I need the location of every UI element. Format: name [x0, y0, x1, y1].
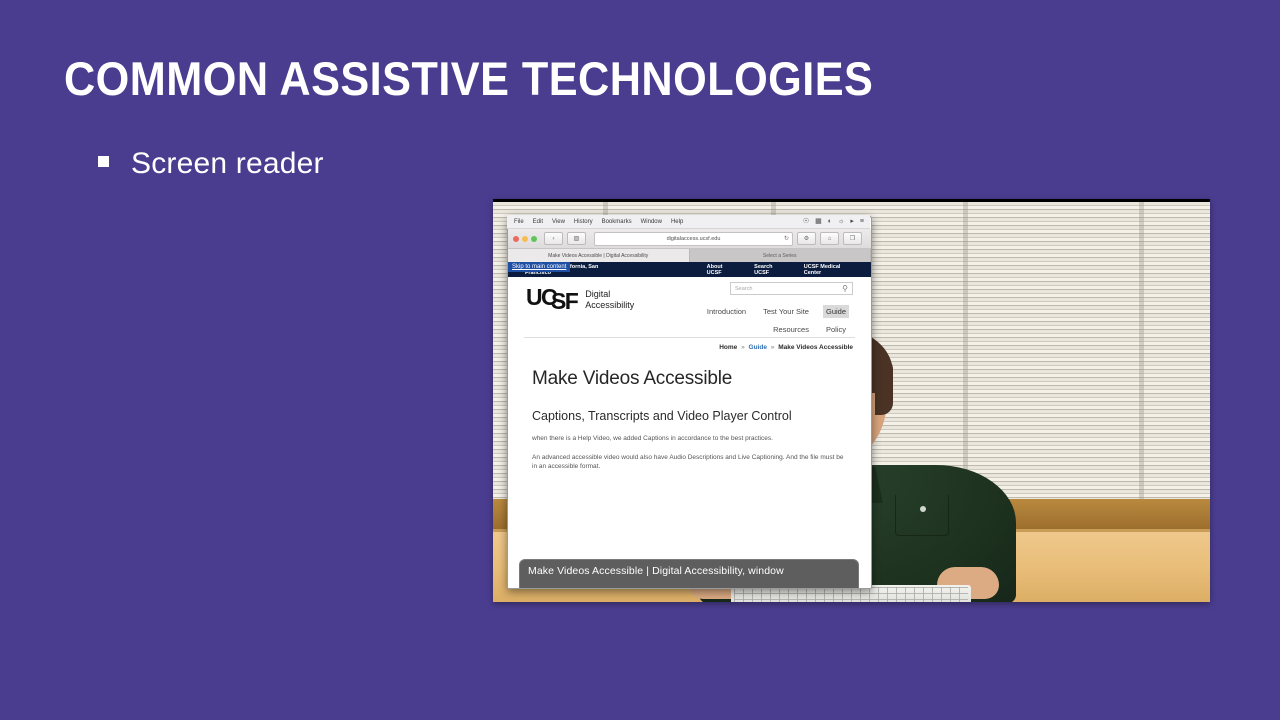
- minimize-window-icon[interactable]: [522, 236, 528, 242]
- bullet-list: Screen reader: [98, 147, 324, 181]
- site-name: Digital Accessibility: [585, 289, 634, 312]
- shirt-pocket-right: [895, 495, 949, 536]
- address-value: digitalaccess.ucsf.edu: [667, 236, 721, 242]
- site-name-line1: Digital: [585, 289, 610, 299]
- video-player-frame[interactable]: ‹ ▧ digitalaccess.ucsf.edu ↻ ⚙ ⌂ ❐ Make …: [493, 199, 1210, 602]
- downloads-button[interactable]: ⚙: [797, 232, 816, 245]
- page-title: COMMON ASSISTIVE TECHNOLOGIES: [64, 54, 873, 103]
- menu-edit[interactable]: Edit: [533, 219, 543, 225]
- breadcrumb[interactable]: Home » Guide » Make Videos Accessible: [524, 337, 855, 351]
- menu-history[interactable]: History: [574, 219, 593, 225]
- search-icon[interactable]: ⚲: [842, 284, 848, 293]
- breadcrumb-current: Make Videos Accessible: [778, 344, 853, 351]
- window-controls[interactable]: [513, 236, 537, 242]
- wifi-icon[interactable]: ◐: [828, 218, 832, 225]
- square-bullet-icon: [98, 156, 109, 167]
- browser-toolbar[interactable]: ‹ ▧ digitalaccess.ucsf.edu ↻ ⚙ ⌂ ❐: [508, 229, 871, 249]
- address-bar[interactable]: digitalaccess.ucsf.edu ↻: [594, 232, 793, 246]
- site-name-line2: Accessibility: [585, 300, 634, 310]
- reader-button[interactable]: ⌂: [820, 232, 839, 245]
- reload-icon[interactable]: ↻: [784, 235, 789, 242]
- menu-view[interactable]: View: [552, 219, 565, 225]
- breadcrumb-separator: »: [771, 344, 775, 351]
- topbar-link-search[interactable]: Search UCSF: [754, 264, 784, 276]
- bluetooth-icon[interactable]: ☉: [803, 218, 809, 225]
- bullet-item-label: Screen reader: [131, 147, 324, 181]
- content-paragraph-2: An advanced accessible video would also …: [532, 453, 847, 473]
- slide: COMMON ASSISTIVE TECHNOLOGIES Screen rea…: [0, 0, 1280, 720]
- browser-window[interactable]: ‹ ▧ digitalaccess.ucsf.edu ↻ ⚙ ⌂ ❐ Make …: [507, 215, 872, 589]
- browser-tab-inactive[interactable]: Select a Series: [690, 249, 872, 262]
- battery-icon[interactable]: ▸: [850, 218, 854, 225]
- content-heading-1: Make Videos Accessible: [532, 368, 871, 390]
- menu-help[interactable]: Help: [671, 219, 683, 225]
- breadcrumb-guide[interactable]: Guide: [749, 344, 767, 351]
- search-placeholder: Search: [735, 286, 842, 292]
- nav-item-resources[interactable]: Resources: [770, 323, 812, 336]
- show-tabs-button[interactable]: ❐: [843, 232, 862, 245]
- nav-item-introduction[interactable]: Introduction: [704, 305, 749, 318]
- menu-window[interactable]: Window: [641, 219, 662, 225]
- search-input[interactable]: Search ⚲: [730, 282, 853, 295]
- site-nav[interactable]: Introduction Test Your Site Guide Resour…: [671, 305, 849, 336]
- site-nav-row-1: Introduction Test Your Site Guide: [671, 305, 849, 318]
- browser-tab-active[interactable]: Make Videos Accessible | Digital Accessi…: [508, 249, 690, 262]
- nav-item-guide[interactable]: Guide: [823, 305, 849, 318]
- breadcrumb-home[interactable]: Home: [719, 344, 737, 351]
- skip-to-main-content-link[interactable]: Skip to main content: [508, 262, 570, 272]
- sidebar-button[interactable]: ▧: [567, 232, 586, 245]
- topbar-link-medical-center[interactable]: UCSF Medical Center: [804, 264, 851, 276]
- page-body: University of California, San Francisco …: [508, 262, 871, 588]
- pocket-button: [920, 506, 926, 512]
- back-button[interactable]: ‹: [544, 232, 563, 245]
- menu-file[interactable]: File: [514, 219, 524, 225]
- topbar-link-about[interactable]: About UCSF: [707, 264, 735, 276]
- mac-menu-items[interactable]: File Edit View History Bookmarks Window …: [507, 219, 683, 225]
- input-source-icon[interactable]: ▦: [815, 218, 822, 225]
- volume-icon[interactable]: ☼: [838, 218, 844, 225]
- video-scene: ‹ ▧ digitalaccess.ucsf.edu ↻ ⚙ ⌂ ❐ Make …: [493, 199, 1210, 602]
- content-heading-2: Captions, Transcripts and Video Player C…: [532, 408, 847, 425]
- mac-menubar[interactable]: File Edit View History Bookmarks Window …: [507, 215, 870, 229]
- mac-menu-status-icons[interactable]: ☉ ▦ ◐ ☼ ▸ ≡: [803, 218, 870, 225]
- voiceover-caption-text: Make Videos Accessible | Digital Accessi…: [528, 565, 850, 579]
- logo-sf: SF: [551, 291, 577, 312]
- site-nav-row-2: Resources Policy: [671, 323, 849, 336]
- browser-tabbar[interactable]: Make Videos Accessible | Digital Accessi…: [508, 249, 871, 263]
- clock-icon[interactable]: ≡: [860, 218, 864, 225]
- nav-item-policy[interactable]: Policy: [823, 323, 849, 336]
- keyboard-keys: [734, 587, 968, 602]
- close-window-icon[interactable]: [513, 236, 519, 242]
- site-header: UCSF Digital Accessibility Search ⚲: [508, 277, 871, 337]
- voiceover-caption-panel: Make Videos Accessible | Digital Accessi…: [519, 559, 859, 588]
- content-paragraph-1: when there is a Help Video, we added Cap…: [532, 434, 847, 444]
- zoom-window-icon[interactable]: [531, 236, 537, 242]
- ucsf-logo[interactable]: UCSF: [526, 287, 577, 308]
- menu-bookmarks[interactable]: Bookmarks: [602, 219, 632, 225]
- nav-item-test-your-site[interactable]: Test Your Site: [760, 305, 812, 318]
- breadcrumb-separator: »: [741, 344, 745, 351]
